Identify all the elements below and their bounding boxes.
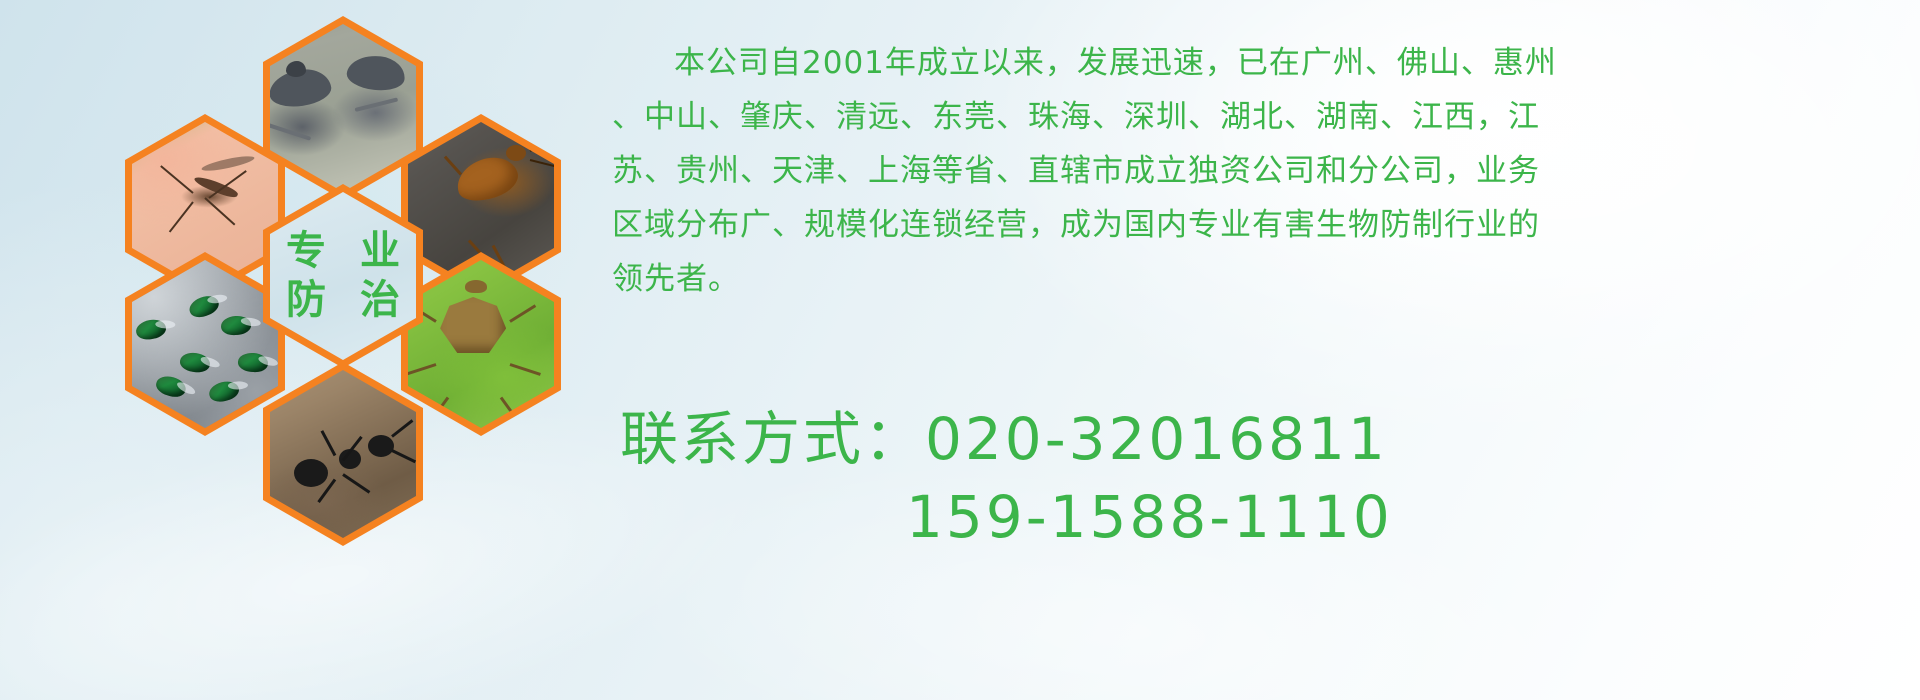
intro-line: 区域分布广、规模化连锁经营，成为国内专业有害生物防制行业的	[612, 198, 1912, 252]
promo-banner: 专 业 防 治 本公司自2001年成立以来，发展迅速，已在广州、佛山、惠州 、中…	[0, 0, 1920, 700]
contact-primary-phone[interactable]: 联系方式：020-32016811	[620, 400, 1920, 478]
logo-text-line-1: 专 业	[276, 227, 410, 276]
intro-line: 领先者。	[612, 252, 1912, 306]
hexagon-photo-cluster: 专 业 防 治	[95, 10, 585, 570]
hex-photo-flies	[125, 252, 285, 436]
contact-block: 联系方式：020-32016811 159-1588-1110	[620, 400, 1920, 556]
intro-line: 本公司自2001年成立以来，发展迅速，已在广州、佛山、惠州	[612, 36, 1912, 90]
hex-logo-tile: 专 业 防 治	[263, 184, 423, 368]
company-intro-paragraph: 本公司自2001年成立以来，发展迅速，已在广州、佛山、惠州 、中山、肇庆、清远、…	[612, 36, 1912, 306]
logo-text-line-2: 防 治	[276, 276, 410, 325]
intro-line: 、中山、肇庆、清远、东莞、珠海、深圳、湖北、湖南、江西，江	[612, 90, 1912, 144]
hex-photo-ant-on-soil	[263, 362, 423, 546]
hex-photo-rats-on-ground	[263, 16, 423, 200]
intro-line: 苏、贵州、天津、上海等省、直辖市成立独资公司和分公司，业务	[612, 144, 1912, 198]
hex-photo-stink-bug-on-leaf	[401, 252, 561, 436]
contact-secondary-phone[interactable]: 159-1588-1110	[620, 478, 1920, 556]
